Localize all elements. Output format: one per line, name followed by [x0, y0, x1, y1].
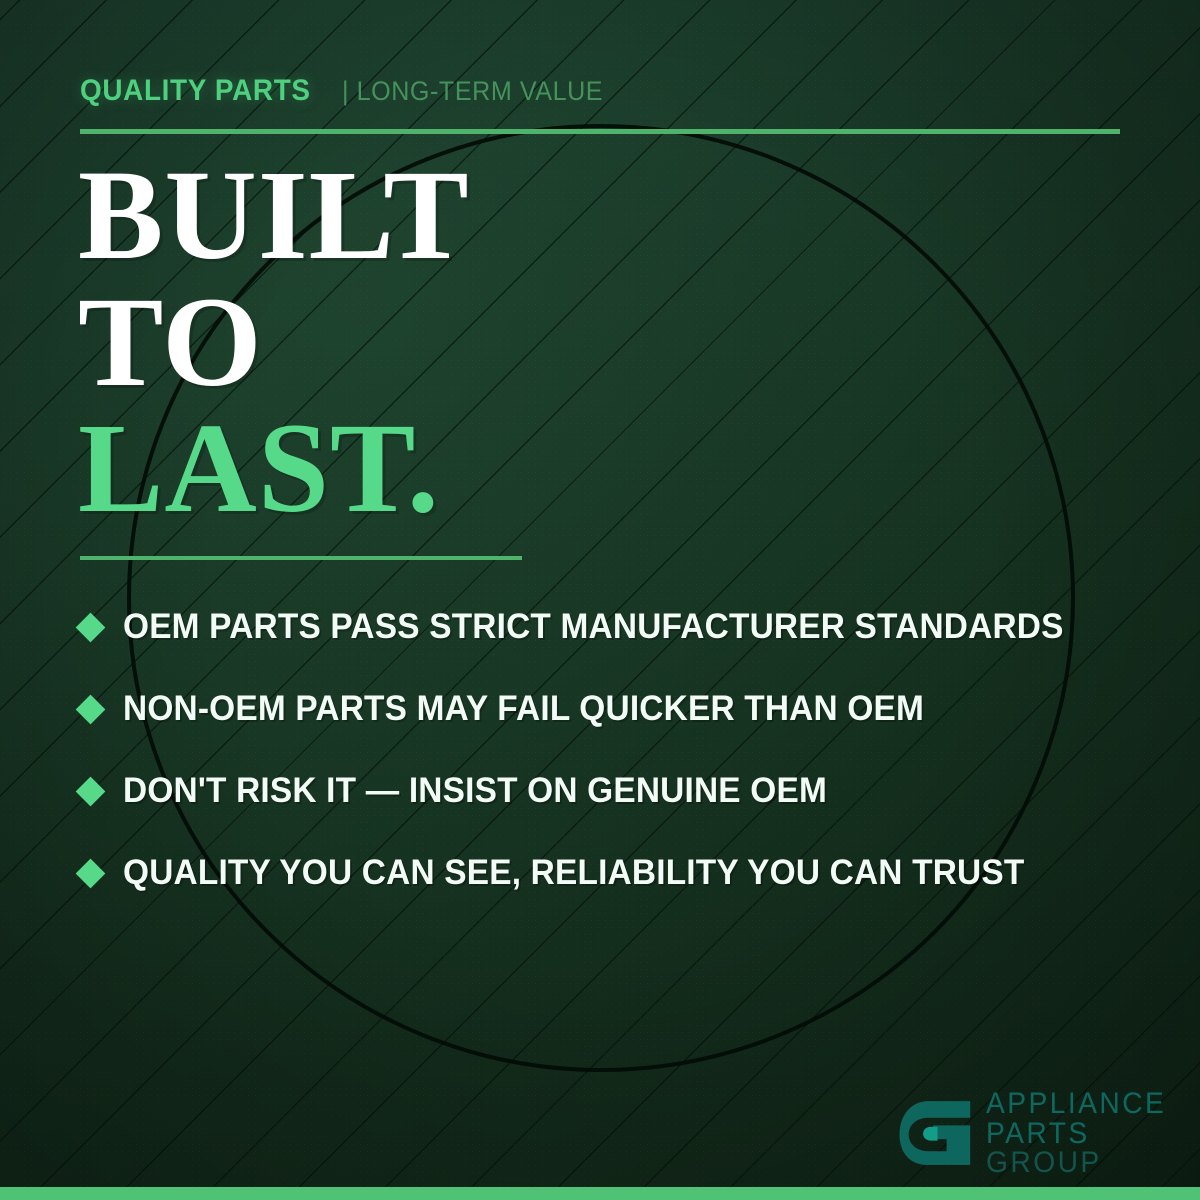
headline-line-2: TO — [78, 279, 470, 406]
list-item: DON'T RISK IT — INSIST ON GENUINE OEM — [80, 750, 1144, 832]
logo-word-line-3: GROUP — [986, 1148, 1166, 1178]
list-item-label: QUALITY YOU CAN SEE, RELIABILITY YOU CAN… — [123, 853, 1024, 893]
list-item-label: OEM PARTS PASS STRICT MANUFACTURER STAND… — [123, 607, 1064, 647]
eyebrow-header: QUALITY PARTS | LONG-TERM VALUE — [80, 74, 623, 108]
headline-divider-rule — [80, 556, 522, 560]
list-item: OEM PARTS PASS STRICT MANUFACTURER STAND… — [80, 586, 1144, 668]
header-divider-rule — [80, 129, 1120, 134]
eyebrow-title: QUALITY PARTS — [80, 74, 311, 108]
list-item: QUALITY YOU CAN SEE, RELIABILITY YOU CAN… — [80, 832, 1144, 914]
list-item: NON-OEM PARTS MAY FAIL QUICKER THAN OEM — [80, 668, 1144, 750]
headline-line-1: BUILT — [78, 152, 470, 279]
list-item-label: NON-OEM PARTS MAY FAIL QUICKER THAN OEM — [123, 689, 924, 729]
diamond-bullet-icon — [76, 776, 106, 806]
brand-logo-wordmark: APPLIANCE PARTS GROUP — [986, 1089, 1178, 1178]
diamond-bullet-icon — [76, 694, 106, 724]
benefit-list: OEM PARTS PASS STRICT MANUFACTURER STAND… — [80, 586, 1144, 914]
eyebrow-subtitle: | LONG-TERM VALUE — [342, 76, 603, 107]
diamond-bullet-icon — [76, 858, 106, 888]
headline-line-3: LAST. — [78, 405, 470, 532]
page-title: BUILT TO LAST. — [78, 152, 470, 532]
list-item-label: DON'T RISK IT — INSIST ON GENUINE OEM — [123, 771, 827, 811]
poster-canvas: QUALITY PARTS | LONG-TERM VALUE BUILT TO… — [0, 0, 1200, 1200]
bottom-accent-bar — [0, 1187, 1200, 1200]
g-monogram-icon — [898, 1095, 974, 1171]
diamond-bullet-icon — [76, 612, 106, 642]
brand-logo: APPLIANCE PARTS GROUP — [898, 1089, 1178, 1178]
logo-word-line-2: PARTS — [986, 1119, 1166, 1149]
logo-word-line-1: APPLIANCE — [986, 1089, 1166, 1119]
